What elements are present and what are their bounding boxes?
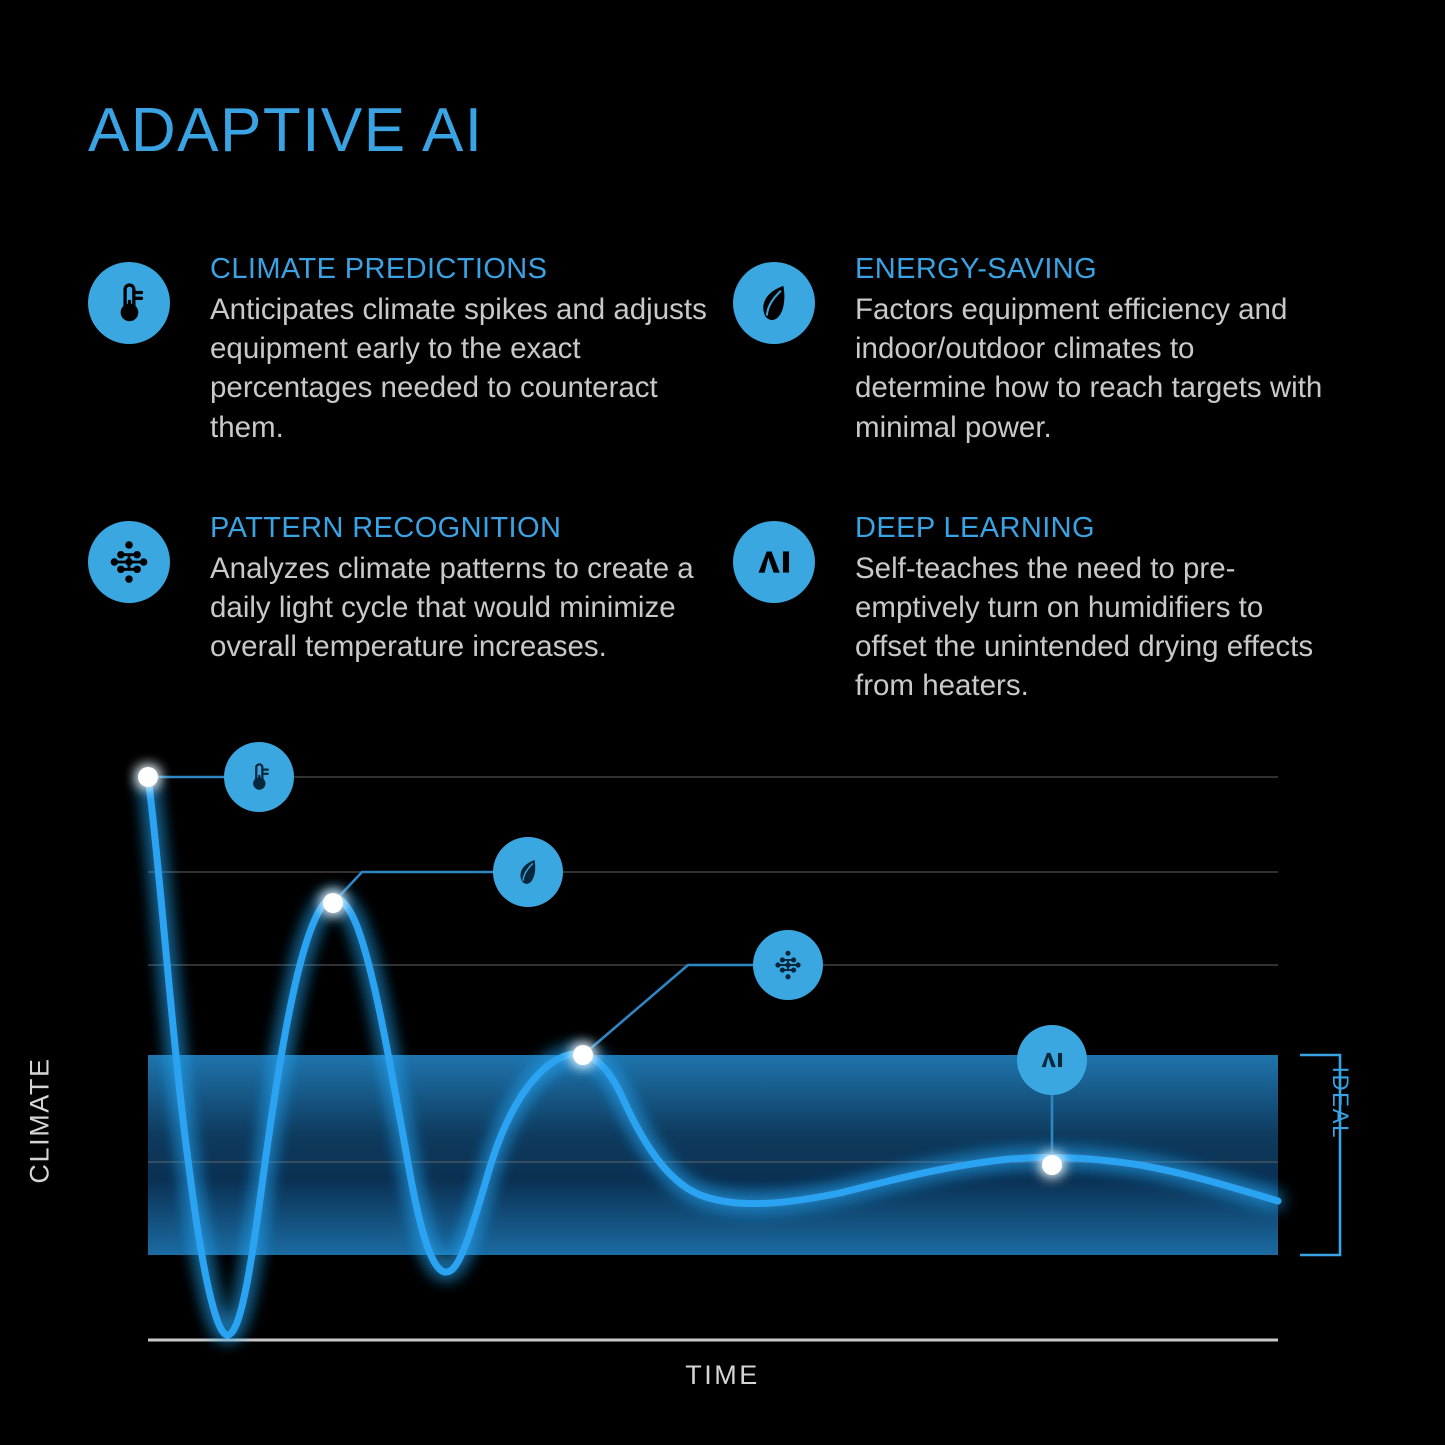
callout-connector <box>333 872 496 903</box>
feature-description: Analyzes climate patterns to create a da… <box>210 549 710 667</box>
feature-climate-predictions: CLIMATE PREDICTIONS Anticipates climate … <box>88 248 733 447</box>
ideal-band <box>148 1055 1278 1255</box>
data-point-marker <box>138 767 158 787</box>
feature-title: PATTERN RECOGNITION <box>210 509 710 548</box>
thermometer-icon <box>88 262 170 344</box>
callout-connector <box>583 965 753 1055</box>
y-axis-label: CLIMATE <box>25 1021 56 1221</box>
feature-title: ENERGY-SAVING <box>855 250 1325 289</box>
callout-energy-saving[interactable] <box>323 837 563 913</box>
data-point-marker <box>1042 1155 1062 1175</box>
page-title: ADAPTIVE AI <box>88 100 484 162</box>
feature-description: Factors equipment efficiency and indoor/… <box>855 290 1325 447</box>
feature-grid: CLIMATE PREDICTIONS Anticipates climate … <box>88 248 1358 706</box>
feature-description: Anticipates climate spikes and adjusts e… <box>210 290 710 447</box>
feature-body: PATTERN RECOGNITION Analyzes climate pat… <box>210 507 710 667</box>
x-axis-label: TIME <box>0 1360 1445 1391</box>
leaf-icon <box>733 262 815 344</box>
callout-climate-predictions[interactable] <box>138 742 294 812</box>
ai-logo-icon <box>733 521 815 603</box>
feature-energy-saving: ENERGY-SAVING Factors equipment efficien… <box>733 248 1358 447</box>
feature-body: CLIMATE PREDICTIONS Anticipates climate … <box>210 248 710 447</box>
data-point-marker <box>323 893 343 913</box>
data-point-marker <box>573 1045 593 1065</box>
feature-title: DEEP LEARNING <box>855 509 1325 548</box>
feature-description: Self-teaches the need to pre-emptively t… <box>855 549 1325 706</box>
climate-response-chart: CLIMATE TIME <box>0 715 1445 1445</box>
feature-body: ENERGY-SAVING Factors equipment efficien… <box>855 248 1325 447</box>
callout-pattern-recognition[interactable] <box>573 930 823 1065</box>
feature-pattern-recognition: PATTERN RECOGNITION Analyzes climate pat… <box>88 507 733 706</box>
feature-deep-learning: DEEP LEARNING Self-teaches the need to p… <box>733 507 1358 706</box>
feature-body: DEEP LEARNING Self-teaches the need to p… <box>855 507 1325 706</box>
network-nodes-icon <box>88 521 170 603</box>
infographic-page: ADAPTIVE AI CLIMATE PREDICTIONS Anticipa <box>0 0 1445 1445</box>
ideal-band-label: IDEAL <box>1327 1043 1353 1163</box>
feature-title: CLIMATE PREDICTIONS <box>210 250 710 289</box>
